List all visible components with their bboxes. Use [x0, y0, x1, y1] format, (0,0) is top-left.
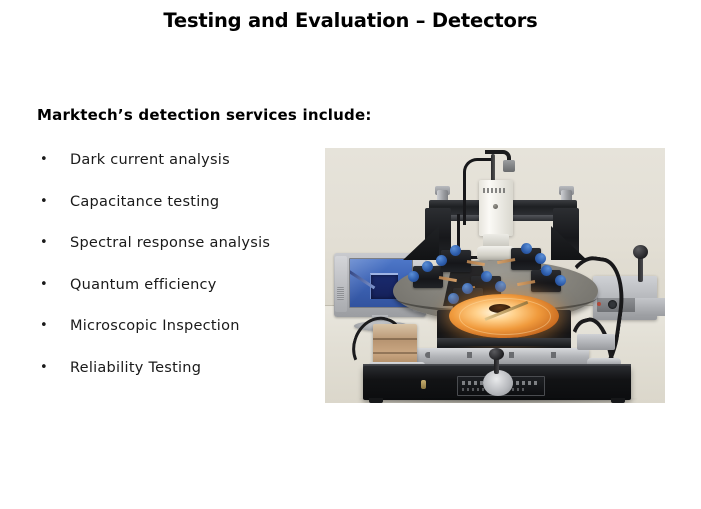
- monitor-wing-left: [335, 256, 347, 312]
- list-item-label: Dark current analysis: [70, 148, 230, 172]
- right-small-block: [577, 334, 615, 350]
- list-item-label: Spectral response analysis: [70, 231, 270, 255]
- probe-manipulator: [441, 250, 471, 272]
- probe-knob-icon: [408, 271, 419, 282]
- list-item-label: Quantum efficiency: [70, 273, 217, 297]
- probe-knob-icon: [521, 243, 532, 254]
- probe-manipulator: [531, 270, 561, 292]
- bullet-icon: •: [40, 314, 48, 338]
- probe-knob-icon: [422, 261, 433, 272]
- base-keyhole: [421, 380, 426, 389]
- list-item-label: Capacitance testing: [70, 190, 219, 214]
- probe-station-photo: [325, 148, 665, 403]
- list-item: • Spectral response analysis: [38, 231, 318, 273]
- bullet-icon: •: [40, 190, 48, 214]
- probe-knob-icon: [555, 275, 566, 286]
- bullet-icon: •: [40, 356, 48, 380]
- stage-joystick-base: [483, 370, 513, 396]
- list-item: • Reliability Testing: [38, 356, 318, 398]
- probe-knob-icon: [481, 271, 492, 282]
- probe-knob-icon: [436, 255, 447, 266]
- bullet-icon: •: [40, 148, 48, 172]
- photo-scene: [325, 148, 665, 403]
- list-item-label: Reliability Testing: [70, 356, 201, 380]
- copper-block-seam: [373, 338, 417, 340]
- list-item: • Dark current analysis: [38, 148, 318, 190]
- list-item: • Quantum efficiency: [38, 273, 318, 315]
- probe-manipulator: [413, 266, 443, 288]
- microscope-top-tube: [491, 154, 495, 182]
- microscope-focus-screw: [493, 204, 498, 209]
- stage-joystick-knob: [489, 348, 504, 360]
- probe-knob-icon: [450, 245, 461, 256]
- module-tail: [635, 298, 665, 316]
- bullet-icon: •: [40, 273, 48, 297]
- probe-knob-icon: [462, 283, 473, 294]
- probe-knob-icon: [448, 293, 459, 304]
- copper-block-seam: [373, 352, 417, 354]
- slide: Testing and Evaluation – Detectors Markt…: [0, 0, 701, 509]
- probe-knob-icon: [535, 253, 546, 264]
- chuck-stage-rail: [437, 338, 571, 346]
- microscope-label: [483, 188, 507, 193]
- monitor-speaker-left: [337, 287, 344, 300]
- probe-knob-icon: [495, 281, 506, 292]
- page-title: Testing and Evaluation – Detectors: [0, 9, 701, 32]
- probe-manipulator: [511, 248, 541, 270]
- section-heading: Marktech’s detection services include:: [37, 106, 372, 124]
- list-item: • Capacitance testing: [38, 190, 318, 232]
- list-item-label: Microscopic Inspection: [70, 314, 240, 338]
- bullet-icon: •: [40, 231, 48, 255]
- microscope-connector: [503, 160, 515, 172]
- probe-knob-icon: [541, 265, 552, 276]
- list-item: • Microscopic Inspection: [38, 314, 318, 356]
- base-shadow: [359, 398, 637, 403]
- module-lever-knob: [633, 245, 648, 259]
- services-bullet-list: • Dark current analysis • Capacitance te…: [38, 148, 318, 397]
